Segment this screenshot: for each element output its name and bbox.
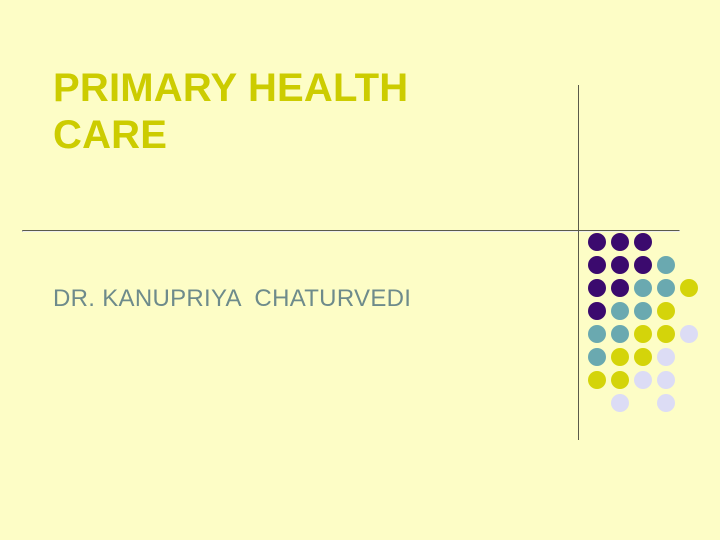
grid-dot-purple-r2c3 xyxy=(634,256,652,274)
vertical-divider xyxy=(578,85,579,440)
grid-dot-teal-r2c4 xyxy=(657,256,675,274)
grid-dot-teal-r3c4 xyxy=(657,279,675,297)
grid-dot-purple-r4c1 xyxy=(588,302,606,320)
grid-dot-yellow-r5c4 xyxy=(657,325,675,343)
grid-dot-teal-r6c1 xyxy=(588,348,606,366)
grid-dot-teal-r4c3 xyxy=(634,302,652,320)
grid-dot-lavender-r8c2 xyxy=(611,394,629,412)
grid-dot-yellow-r4c4 xyxy=(657,302,675,320)
grid-dot-teal-r5c2 xyxy=(611,325,629,343)
horizontal-divider xyxy=(22,230,680,232)
grid-dot-yellow-r7c2 xyxy=(611,371,629,389)
dot-grid-decoration xyxy=(588,233,708,413)
grid-dot-teal-r5c1 xyxy=(588,325,606,343)
grid-dot-yellow-r7c1 xyxy=(588,371,606,389)
grid-dot-purple-r2c1 xyxy=(588,256,606,274)
grid-dot-purple-r3c2 xyxy=(611,279,629,297)
grid-dot-lavender-r6c4 xyxy=(657,348,675,366)
grid-dot-yellow-r6c3 xyxy=(634,348,652,366)
grid-dot-yellow-r6c2 xyxy=(611,348,629,366)
grid-dot-purple-r2c2 xyxy=(611,256,629,274)
slide-subtitle-author: DR. KANUPRIYA CHATURVEDI xyxy=(53,285,573,313)
grid-dot-purple-r1c2 xyxy=(611,233,629,251)
grid-dot-lavender-r8c4 xyxy=(657,394,675,412)
grid-dot-purple-r1c1 xyxy=(588,233,606,251)
grid-dot-lavender-r7c3 xyxy=(634,371,652,389)
grid-dot-purple-r3c1 xyxy=(588,279,606,297)
slide-canvas: PRIMARY HEALTH CARE DR. KANUPRIYA CHATUR… xyxy=(0,0,720,540)
grid-dot-yellow-r3c5 xyxy=(680,279,698,297)
grid-dot-lavender-r5c5 xyxy=(680,325,698,343)
grid-dot-lavender-r7c4 xyxy=(657,371,675,389)
grid-dot-teal-r4c2 xyxy=(611,302,629,320)
grid-dot-teal-r3c3 xyxy=(634,279,652,297)
slide-title: PRIMARY HEALTH CARE xyxy=(53,65,553,159)
grid-dot-yellow-r5c3 xyxy=(634,325,652,343)
grid-dot-purple-r1c3 xyxy=(634,233,652,251)
